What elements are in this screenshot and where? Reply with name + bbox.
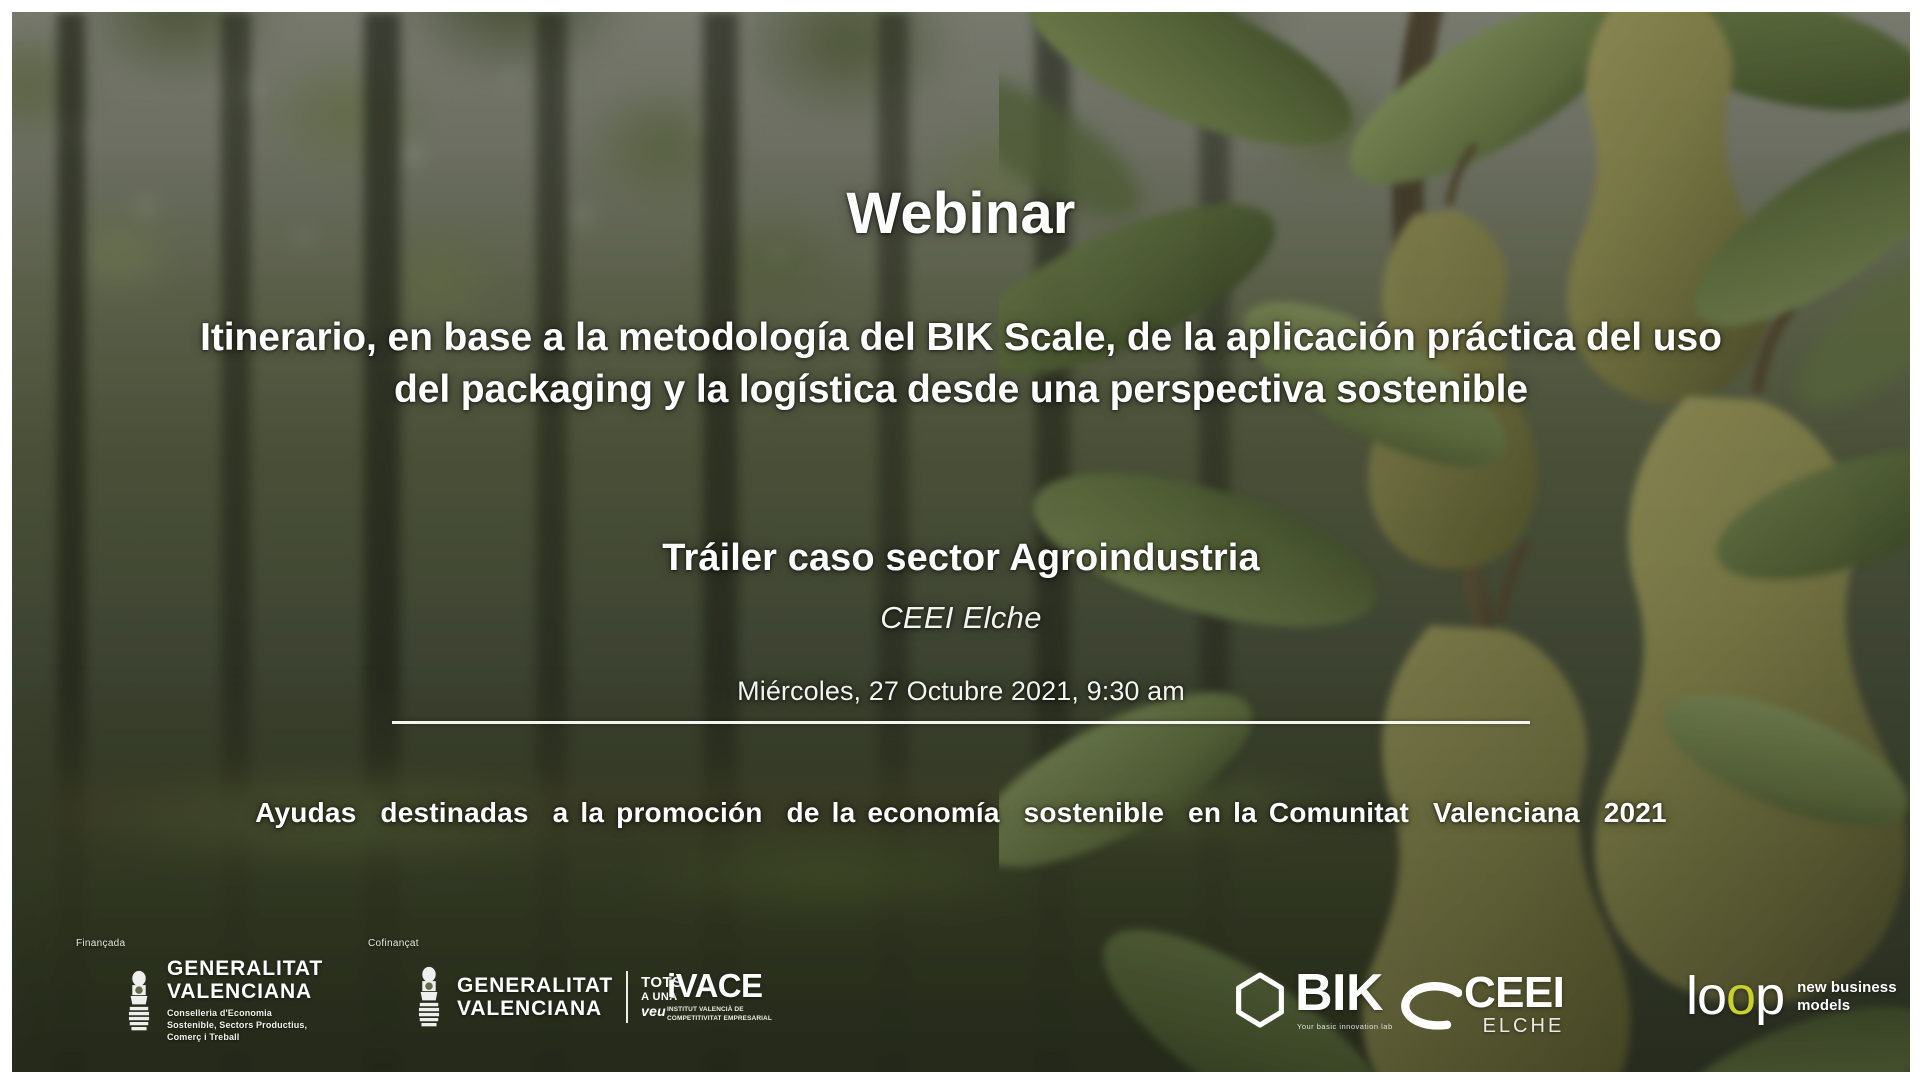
webinar-slide: Webinar Itinerario, en base a la metodol…	[12, 12, 1910, 1072]
programme-subtitle: Ayudas destinadas a la promoción de la e…	[12, 797, 1910, 829]
ivace-wordmark: iVACE	[667, 970, 772, 1001]
ceei-wordmark: CEEI	[1464, 974, 1564, 1013]
generalitat-shield-icon	[412, 966, 446, 1028]
slide-content: Webinar Itinerario, en base a la metodol…	[12, 12, 1910, 1072]
ivace-subtitle: INSTITUT VALENCIÀ DE COMPETITIVITAT EMPR…	[667, 1005, 772, 1023]
generalitat-line-2: VALENCIANA	[457, 998, 613, 1019]
generalitat-line-1: GENERALITAT	[457, 975, 613, 996]
slide-headline: Itinerario, en base a la metodología del…	[181, 312, 1741, 416]
logo-separator-rule	[626, 971, 628, 1023]
logo-bik: BIK Your basic innovation lab	[1234, 970, 1393, 1031]
loop-word-after: p	[1755, 966, 1784, 1026]
bik-tagline: Your basic innovation lab	[1297, 1022, 1393, 1031]
cofunder-caption: Cofinançat	[368, 938, 419, 949]
horizontal-divider	[392, 721, 1530, 724]
session-title: Tráiler caso sector Agroindustria	[12, 537, 1910, 580]
logo-loop: loop new business models	[1686, 974, 1897, 1020]
event-type-kicker: Webinar	[12, 180, 1910, 247]
generalitat-line-1: GENERALITAT	[167, 958, 323, 979]
session-datetime: Miércoles, 27 Octubre 2021, 9:30 am	[12, 676, 1910, 707]
bik-hexagon-icon	[1234, 972, 1286, 1028]
sponsor-logo-bar: Finançada	[12, 922, 1910, 1072]
logo-ivace: iVACE INSTITUT VALENCIÀ DE COMPETITIVITA…	[667, 970, 772, 1023]
loop-word-before: lo	[1686, 966, 1726, 1026]
logo-generalitat-tots-a-una-veu: GENERALITAT VALENCIANA TOTS A UNA veu	[412, 966, 682, 1028]
ceei-swoosh-icon	[1400, 979, 1462, 1033]
loop-wordmark: loop	[1686, 974, 1784, 1020]
loop-word-accent: o	[1726, 966, 1755, 1026]
logo-generalitat-valenciana-funder: GENERALITAT VALENCIANA Conselleria d'Eco…	[122, 958, 323, 1044]
logo-ceei-elche: CEEI ELCHE	[1400, 974, 1564, 1038]
ceei-city: ELCHE	[1464, 1015, 1564, 1038]
generalitat-line-2: VALENCIANA	[167, 981, 323, 1002]
funder-caption: Finançada	[76, 938, 125, 949]
slide-frame: Webinar Itinerario, en base a la metodol…	[0, 0, 1920, 1080]
loop-tagline: new business models	[1797, 979, 1897, 1016]
generalitat-department: Conselleria d'Economia Sostenible, Secto…	[167, 1008, 323, 1044]
session-organizer: CEEI Elche	[12, 600, 1910, 636]
generalitat-shield-icon	[122, 970, 156, 1032]
bik-wordmark: BIK	[1295, 970, 1393, 1017]
